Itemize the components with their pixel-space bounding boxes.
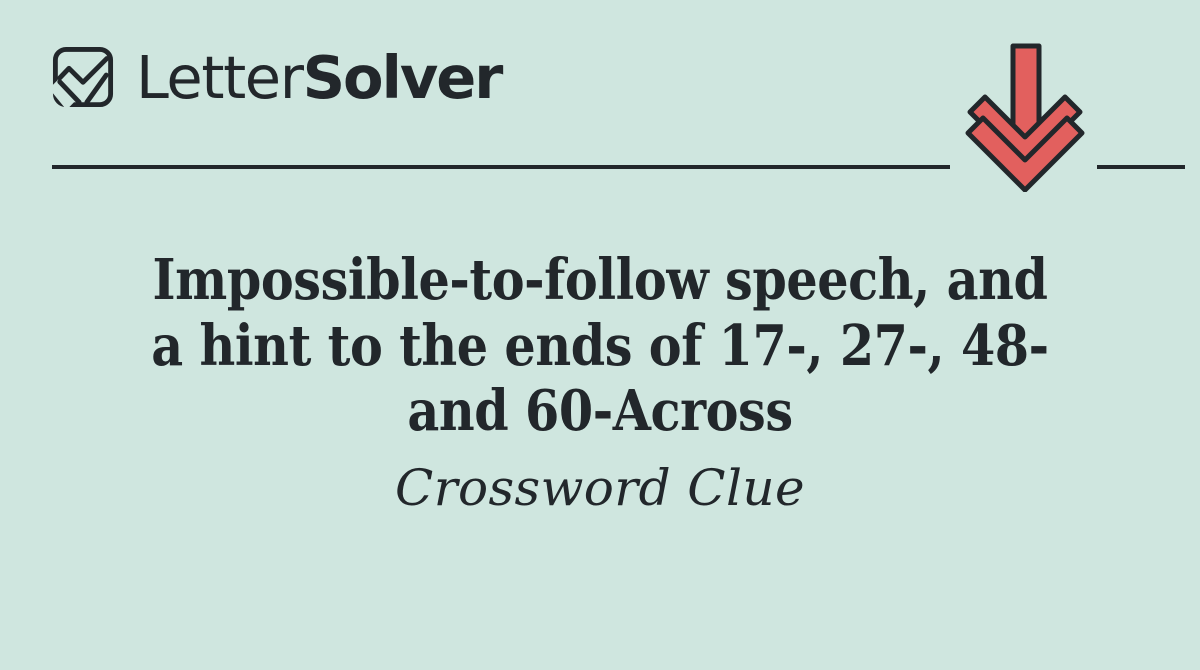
- clue-subtitle: Crossword Clue: [70, 461, 1130, 516]
- divider-rule-left: [52, 165, 950, 169]
- clue-title: Impossible-to-follow speech, and a hint …: [134, 248, 1067, 445]
- brand-wordmark[interactable]: LetterSolver: [136, 48, 501, 107]
- checkmark-square-icon: [52, 46, 114, 108]
- clue-card: LetterSolver Impossible-to-follow speech…: [0, 0, 1200, 670]
- site-header: LetterSolver: [52, 34, 501, 120]
- divider-rule-right: [1097, 165, 1185, 169]
- arrow-down-icon: [958, 40, 1092, 192]
- clue-text-block: Impossible-to-follow speech, and a hint …: [0, 248, 1200, 516]
- brand-wordmark-bold: Solver: [303, 48, 502, 107]
- brand-wordmark-light: Letter: [136, 48, 303, 107]
